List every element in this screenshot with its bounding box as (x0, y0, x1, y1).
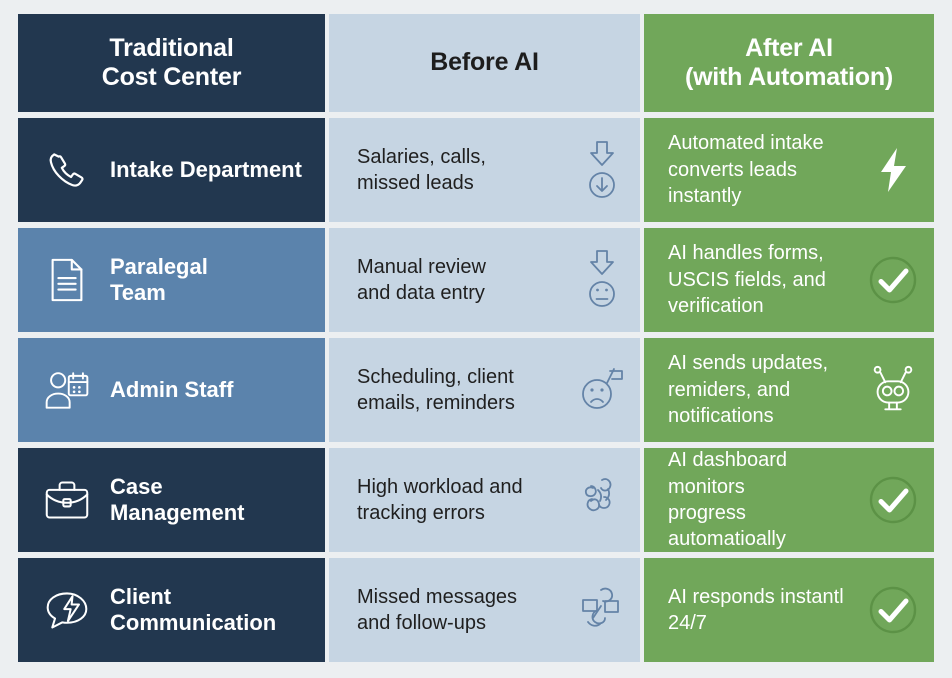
row-label-text: Intake Department (110, 157, 302, 183)
before-ai-text: Missed messages and follow-ups (357, 584, 517, 637)
lightning-bolt-icon (866, 143, 920, 197)
row-before-ai-paralegal: Manual review and data entry (329, 228, 640, 332)
before-ai-text: Salaries, calls, missed leads (357, 144, 486, 197)
broken-link-scribble-icon (576, 579, 628, 641)
person-calendar-icon (44, 367, 90, 413)
before-ai-text: Scheduling, client emails, reminders (357, 364, 515, 417)
table-row: Admin Staff Scheduling, client emails, r… (18, 338, 934, 442)
after-ai-text: Automated intake converts leads instantl… (668, 130, 860, 209)
table-row: Paralegal Team Manual review and data en… (18, 228, 934, 332)
row-label-case-management: Case Management (18, 448, 325, 552)
header-after-ai: After AI (with Automation) (644, 14, 934, 112)
row-label-intake-department: Intake Department (18, 118, 325, 222)
document-icon (44, 257, 90, 303)
table-row: Intake Department Salaries, calls, misse… (18, 118, 934, 222)
row-label-paralegal-team: Paralegal Team (18, 228, 325, 332)
after-ai-text: AI sends updates, remiders, and notifica… (668, 350, 860, 429)
speech-bubble-bolt-icon (44, 587, 90, 633)
comparison-table: Traditional Cost Center Before AI After … (0, 0, 952, 678)
after-ai-text: AI dashboard monitors progress automatio… (668, 447, 860, 553)
table-row: Client Communication Missed messages and… (18, 558, 934, 662)
tangled-scribble-icon (576, 469, 628, 531)
check-circle-icon (866, 253, 920, 307)
row-after-ai-case: AI dashboard monitors progress automatio… (644, 448, 934, 552)
row-after-ai-intake: Automated intake converts leads instantl… (644, 118, 934, 222)
sad-face-with-flag-icon (576, 359, 628, 421)
header-label: Before AI (430, 48, 538, 78)
row-label-text: Client Communication (110, 584, 276, 637)
row-after-ai-client: AI responds instantl 24/7 (644, 558, 934, 662)
row-label-admin-staff: Admin Staff (18, 338, 325, 442)
check-circle-icon (866, 473, 920, 527)
row-before-ai-case: High workload and tracking errors (329, 448, 640, 552)
robot-icon (866, 363, 920, 417)
header-label: Traditional Cost Center (102, 34, 242, 93)
down-arrow-and-neutral-face-icon (576, 249, 628, 311)
phone-icon (44, 147, 90, 193)
briefcase-icon (44, 477, 90, 523)
table-row: Case Management High workload and tracki… (18, 448, 934, 552)
header-label: After AI (with Automation) (685, 34, 893, 93)
before-ai-text: High workload and tracking errors (357, 474, 523, 527)
row-before-ai-intake: Salaries, calls, missed leads (329, 118, 640, 222)
row-label-text: Admin Staff (110, 377, 233, 403)
down-arrow-and-circled-down-arrow-icon (576, 139, 628, 201)
before-ai-text: Manual review and data entry (357, 254, 486, 307)
row-label-client-communication: Client Communication (18, 558, 325, 662)
check-circle-icon (866, 583, 920, 637)
header-before-ai: Before AI (329, 14, 640, 112)
row-label-text: Paralegal Team (110, 254, 208, 307)
table-header-row: Traditional Cost Center Before AI After … (18, 14, 934, 112)
row-before-ai-admin: Scheduling, client emails, reminders (329, 338, 640, 442)
row-label-text: Case Management (110, 474, 244, 527)
row-after-ai-admin: AI sends updates, remiders, and notifica… (644, 338, 934, 442)
row-after-ai-paralegal: AI handles forms, USCIS fields, and veri… (644, 228, 934, 332)
row-before-ai-client: Missed messages and follow-ups (329, 558, 640, 662)
after-ai-text: AI handles forms, USCIS fields, and veri… (668, 240, 826, 319)
header-traditional-cost-center: Traditional Cost Center (18, 14, 325, 112)
after-ai-text: AI responds instantl 24/7 (668, 584, 844, 637)
